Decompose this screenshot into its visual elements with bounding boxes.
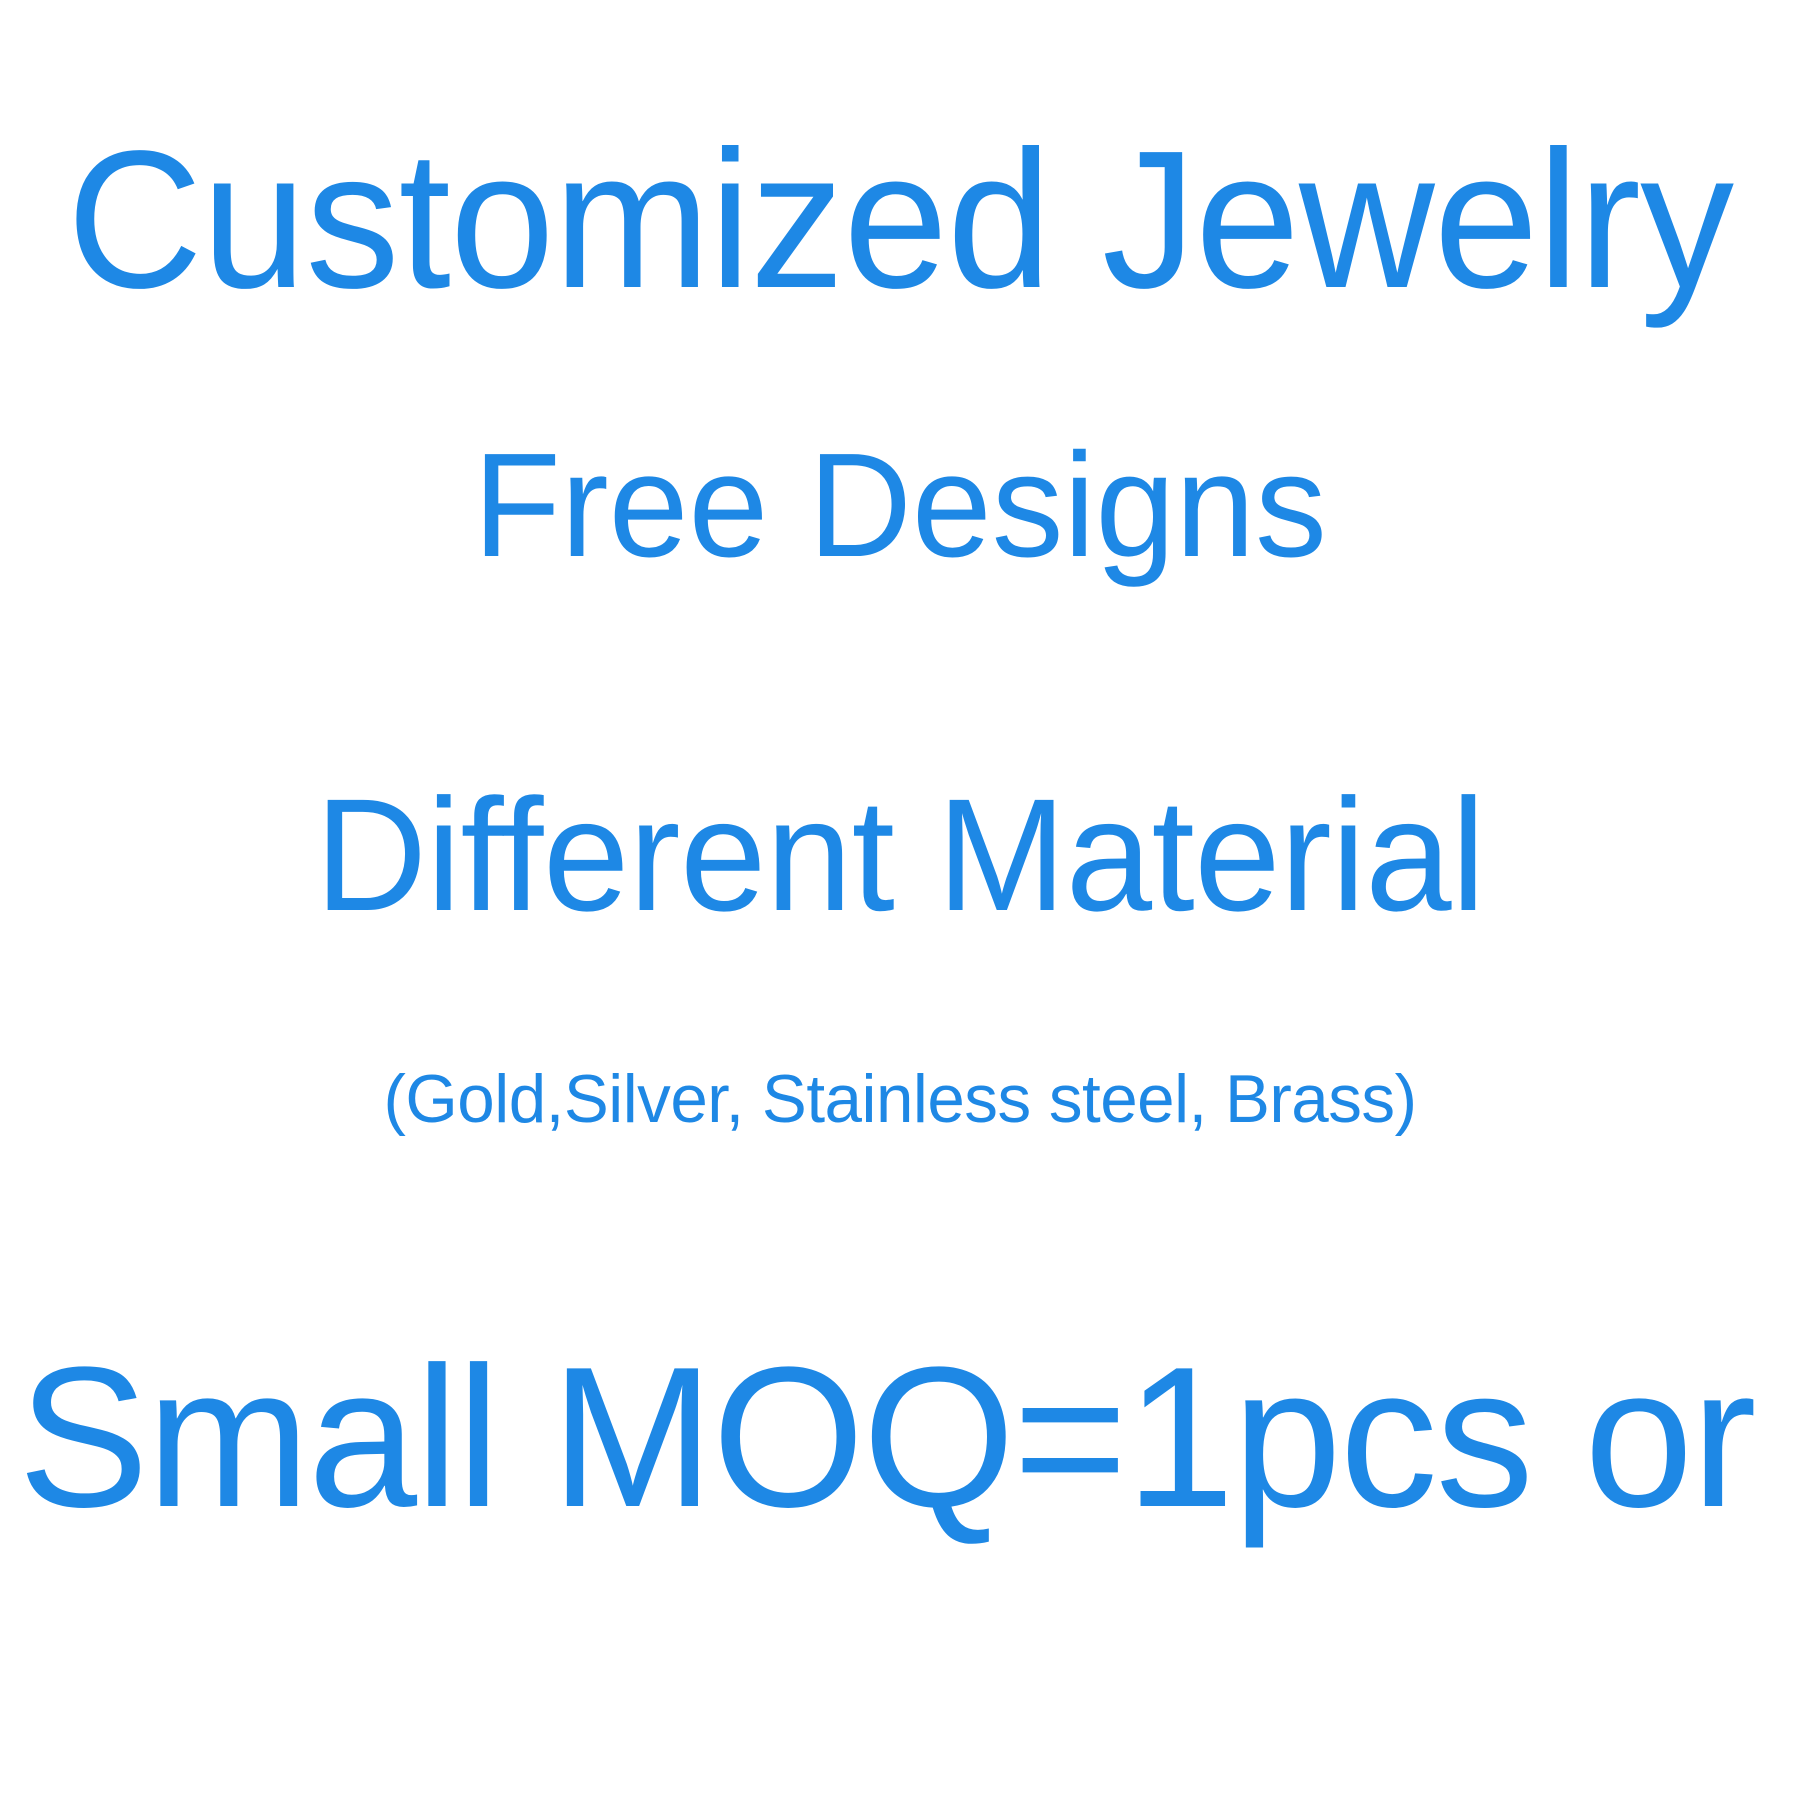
page-title: Customized Jewelry: [36, 122, 1764, 318]
promo-banner: Customized Jewelry Free Designs Differen…: [0, 0, 1800, 1800]
free-designs-heading: Free Designs: [27, 432, 1773, 580]
minimum-order-quantity-text: Small MOQ=1pcs or 20pcs: [18, 1338, 1782, 1538]
material-options-text: (Gold,Silver, Stainless steel, Brass): [9, 1065, 1791, 1133]
different-material-heading: Different Material: [27, 775, 1773, 935]
